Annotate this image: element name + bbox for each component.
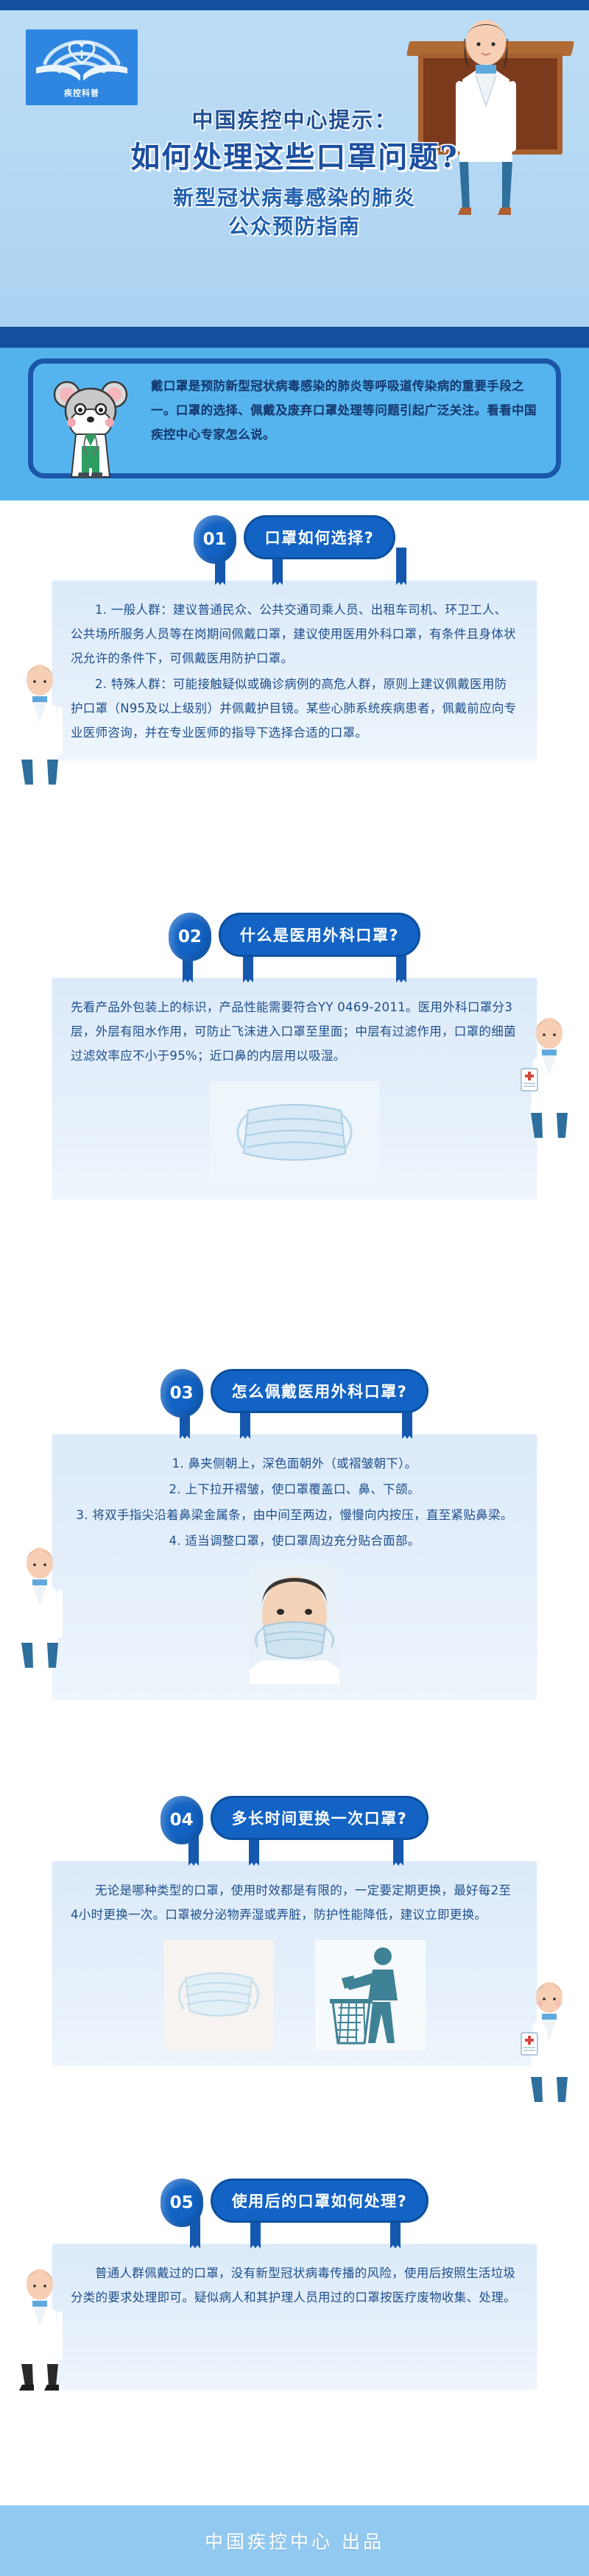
hero-subtitle-line2: 公众预防指南 xyxy=(0,212,589,241)
throw-into-bin-icon xyxy=(315,1940,426,2050)
mouse-doctor-icon xyxy=(46,369,135,480)
section-01-number: 01 xyxy=(194,515,236,564)
section-03-paragraph-3: 3. 将双手指尖沿着鼻梁金属条，由中间至两边，慢慢向内按压，直至紧贴鼻梁。 xyxy=(71,1503,518,1527)
section-03-header: 03 怎么佩戴医用外科口罩? xyxy=(0,1369,589,1418)
section-03: 03 怎么佩戴医用外科口罩? 1. 鼻夹侧朝上，深色面朝外（或褶皱朝下）。 2.… xyxy=(0,1369,589,1700)
section-04: 04 多长时间更换一次口罩? 无论是哪种类型的口罩，使用时效都是有限的，一定要定… xyxy=(0,1796,589,2067)
section-03-paragraph-1: 1. 鼻夹侧朝上，深色面朝外（或褶皱朝下）。 xyxy=(71,1451,518,1476)
mask-icon xyxy=(163,1940,274,2050)
section-01-header: 01 口罩如何选择? xyxy=(0,515,589,564)
logo-cross-icon xyxy=(77,50,86,59)
section-01: 01 口罩如何选择? 1. 一般人群：建议普通民众、公共交通司乘人员、出租车司机… xyxy=(0,515,589,761)
section-01-title: 口罩如何选择? xyxy=(244,515,396,559)
hero-banner: 疾控科普 中国疾控中心提示： xyxy=(0,10,589,327)
section-02-paragraph-1: 先看产品外包装上的标识，产品性能需要符合YY 0469-2011。医用外科口罩分… xyxy=(71,995,518,1068)
section-01-body: 1. 一般人群：建议普通民众、公共交通司乘人员、出租车司机、环卫工人、公共场所服… xyxy=(52,580,537,761)
section-02-figures xyxy=(71,1081,518,1184)
section-02: 02 什么是医用外科口罩? 先看产品外包装上的标识，产品性能需要符合YY 046… xyxy=(0,913,589,1200)
logo-caption: 疾控科普 xyxy=(26,83,138,102)
section-03-title: 怎么佩戴医用外科口罩? xyxy=(211,1369,429,1413)
section-05-title: 使用后的口罩如何处理? xyxy=(211,2179,429,2223)
infographic-page: 疾控科普 中国疾控中心提示： xyxy=(0,0,589,2576)
section-04-title: 多长时间更换一次口罩? xyxy=(211,1796,429,1840)
hero-subtitle-line1: 新型冠状病毒感染的肺炎 xyxy=(0,183,589,212)
doctor-side-left-01 xyxy=(10,662,69,788)
logo-caption-text: 疾控科普 xyxy=(64,87,99,99)
section-03-paragraph-4: 4. 适当调整口罩，使口罩周边充分贴合面部。 xyxy=(71,1529,518,1553)
section-04-paragraph-1: 无论是哪种类型的口罩，使用时效都是有限的，一定要定期更换，最好每2至4小时更换一… xyxy=(71,1878,518,1927)
footer-band: 中国疾控中心 出品 xyxy=(0,2505,589,2576)
logo-book-icon xyxy=(26,29,138,82)
intro-card: 戴口罩是预防新型冠状病毒感染的肺炎等呼吸道传染病的重要手段之一。口罩的选择、佩戴… xyxy=(28,358,561,478)
top-accent-bar xyxy=(0,0,589,10)
section-03-body: 1. 鼻夹侧朝上，深色面朝外（或褶皱朝下）。 2. 上下拉开褶皱，使口罩覆盖口、… xyxy=(52,1434,537,1700)
section-05-header: 05 使用后的口罩如何处理? xyxy=(0,2179,589,2227)
section-05-paragraph-1: 普通人群佩戴过的口罩，没有新型冠状病毒传播的风险，使用后按照生活垃圾分类的要求处… xyxy=(71,2261,518,2310)
section-02-header: 02 什么是医用外科口罩? xyxy=(0,913,589,961)
surgical-mask-icon xyxy=(210,1081,379,1184)
hero-headline: 如何处理这些口罩问题? xyxy=(0,138,589,177)
section-05: 05 使用后的口罩如何处理? 普通人群佩戴过的口罩，没有新型冠状病毒传播的风险，… xyxy=(0,2179,589,2391)
footer-spacer xyxy=(0,2495,589,2505)
person-wearing-mask-icon xyxy=(239,1566,350,1684)
section-05-number: 05 xyxy=(161,2179,203,2227)
footer-text: 中国疾控中心 出品 xyxy=(205,2527,384,2554)
doctor-side-right-02 xyxy=(520,1016,579,1141)
section-03-number: 03 xyxy=(161,1369,203,1418)
section-04-header: 04 多长时间更换一次口罩? xyxy=(0,1796,589,1844)
ribbon-right xyxy=(396,548,406,580)
section-04-figures xyxy=(71,1940,518,2050)
section-03-figures xyxy=(71,1566,518,1684)
intro-paragraph: 戴口罩是预防新型冠状病毒感染的肺炎等呼吸道传染病的重要手段之一。口罩的选择、佩戴… xyxy=(151,374,540,447)
section-04-number: 04 xyxy=(161,1796,203,1844)
section-01-paragraph-2: 2. 特殊人群：可能接触疑似或确诊病例的高危人群，原则上建议佩戴医用防护口罩（N… xyxy=(71,672,518,745)
doctor-side-right-04 xyxy=(520,1980,579,2105)
doctor-side-left-05 xyxy=(10,2267,69,2392)
section-04-body: 无论是哪种类型的口罩，使用时效都是有限的，一定要定期更换，最好每2至4小时更换一… xyxy=(52,1861,537,2067)
section-02-title: 什么是医用外科口罩? xyxy=(219,913,420,957)
china-cdc-logo: 疾控科普 xyxy=(26,29,138,105)
section-03-paragraph-2: 2. 上下拉开褶皱，使口罩覆盖口、鼻、下颌。 xyxy=(71,1477,518,1501)
hero-title-group: 中国疾控中心提示： 如何处理这些口罩问题? 新型冠状病毒感染的肺炎 公众预防指南 xyxy=(0,106,589,241)
doctor-side-left-03 xyxy=(10,1546,69,1671)
section-02-body: 先看产品外包装上的标识，产品性能需要符合YY 0469-2011。医用外科口罩分… xyxy=(52,977,537,1200)
section-02-number: 02 xyxy=(169,913,211,961)
section-05-body: 普通人群佩戴过的口罩，没有新型冠状病毒传播的风险，使用后按照生活垃圾分类的要求处… xyxy=(52,2243,537,2391)
hero-kicker: 中国疾控中心提示： xyxy=(0,106,589,135)
section-01-paragraph-1: 1. 一般人群：建议普通民众、公共交通司乘人员、出租车司机、环卫工人、公共场所服… xyxy=(71,598,518,670)
